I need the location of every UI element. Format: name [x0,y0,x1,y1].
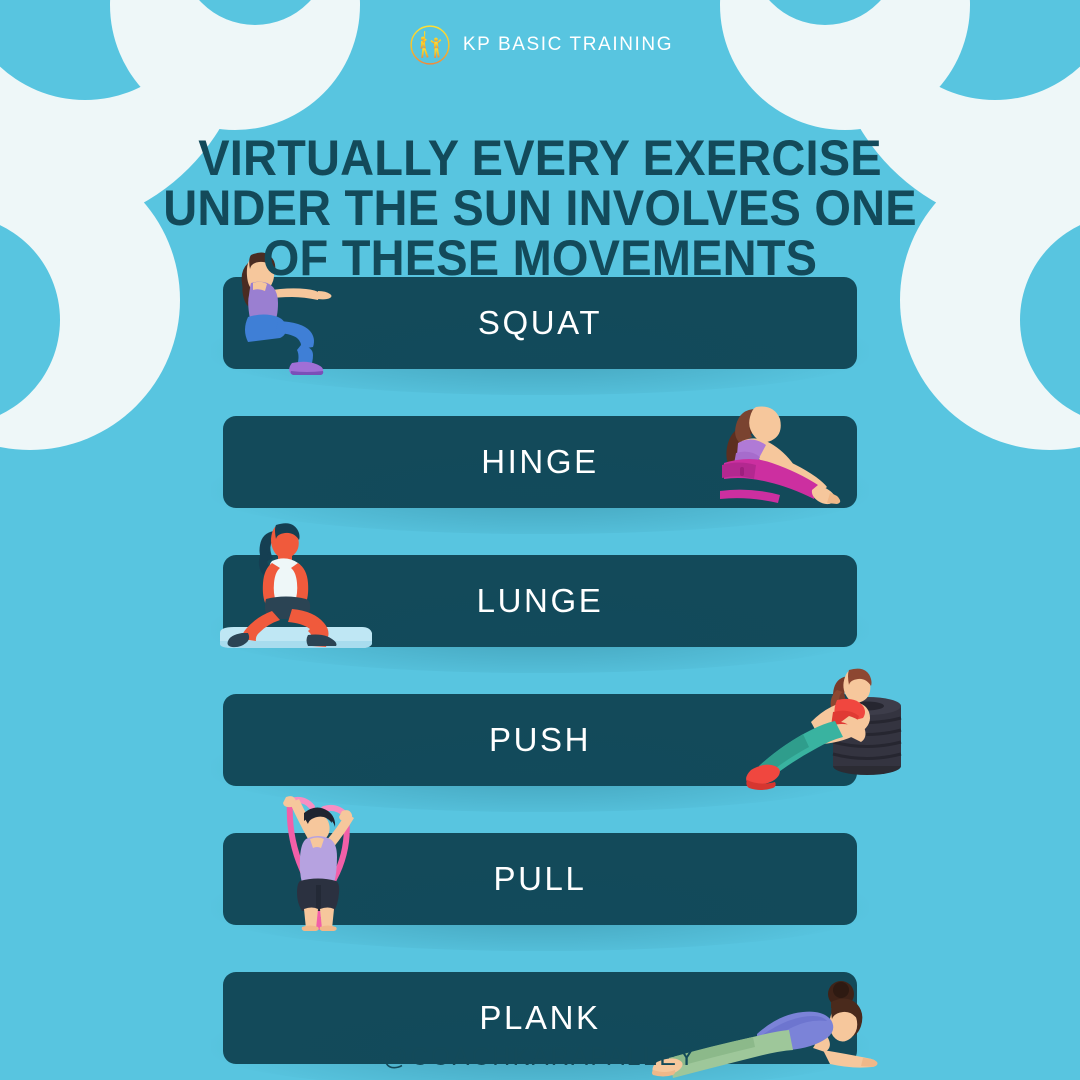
movement-item-squat: SQUAT [0,277,1080,416]
infographic-poster: KP BASIC TRAINING VIRTUALLY EVERY EXERCI… [0,0,1080,1080]
movement-label: SQUAT [223,277,857,369]
movement-label: LUNGE [223,555,857,647]
movement-item-pull: PULL [0,833,1080,972]
movement-bar[interactable]: HINGE [223,416,857,508]
brand-logo: KP BASIC TRAINING [0,18,1080,72]
page-title: VIRTUALLY EVERY EXERCISE UNDER THE SUN I… [32,133,1047,283]
headline-line-2: UNDER THE SUN INVOLVES ONE [32,183,1047,233]
movement-bar[interactable]: PUSH [223,694,857,786]
two-figures-circle-logo-icon [407,22,453,68]
social-handle: @COACHKARAPALLEY [0,1043,1080,1072]
movement-item-push: PUSH [0,694,1080,833]
movement-label: PULL [223,833,857,925]
movement-bar[interactable]: PULL [223,833,857,925]
headline-line-3: OF THESE MOVEMENTS [32,233,1047,283]
headline-line-1: VIRTUALLY EVERY EXERCISE [32,133,1047,183]
movement-list: SQUAT [0,277,1080,1080]
movement-bar[interactable]: SQUAT [223,277,857,369]
movement-item-hinge: HINGE [0,416,1080,555]
movement-label: HINGE [223,416,857,508]
movement-label: PUSH [223,694,857,786]
movement-bar[interactable]: LUNGE [223,555,857,647]
movement-item-lunge: LUNGE [0,555,1080,694]
brand-name: KP BASIC TRAINING [463,34,673,56]
